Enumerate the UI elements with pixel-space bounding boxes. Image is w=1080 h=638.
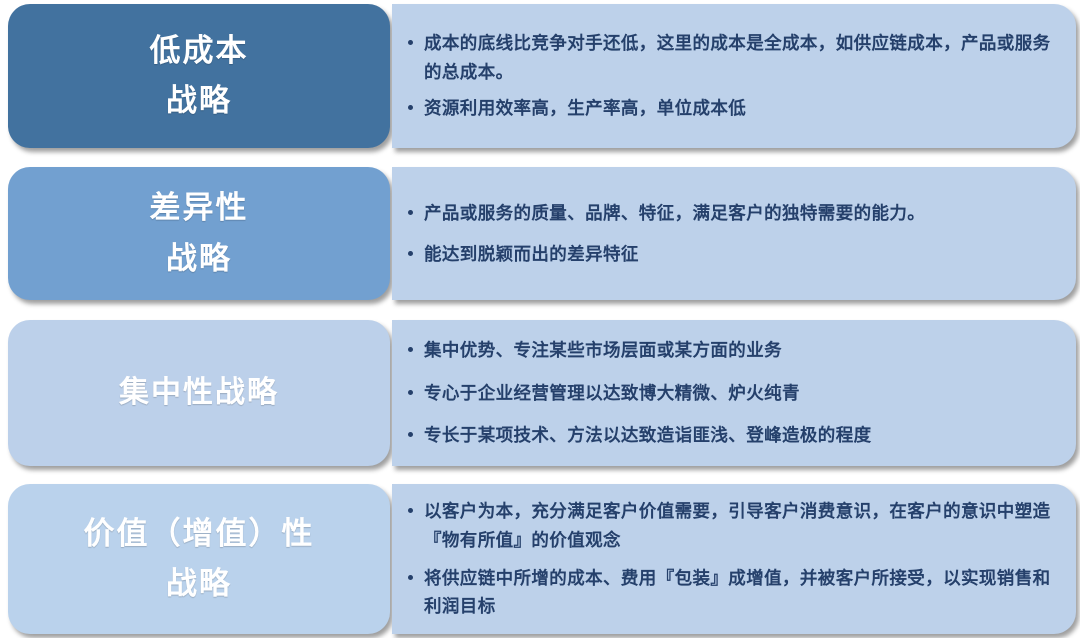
strategy-label-card-differentiation[interactable]: 差异性 战略	[8, 167, 390, 300]
strategy-label-line: 战略	[166, 559, 232, 609]
strategy-body-panel-low-cost: 成本的底线比竞争对手还低，这里的成本是全成本，如供应链成本，产品或服务的总成本。…	[392, 4, 1076, 148]
strategy-row-focus: 集中性战略 集中优势、专注某些市场层面或某方面的业务 专心于企业经营管理以达致博…	[0, 320, 1080, 466]
strategy-label-line: 战略	[166, 234, 232, 284]
bullet-item: 成本的底线比竞争对手还低，这里的成本是全成本，如供应链成本，产品或服务的总成本。	[406, 29, 1058, 86]
strategy-body-panel-focus: 集中优势、专注某些市场层面或某方面的业务 专心于企业经营管理以达致博大精微、炉火…	[392, 320, 1076, 466]
strategy-label-line: 战略	[166, 76, 232, 126]
bullet-item: 能达到脱颖而出的差异特征	[406, 240, 1058, 268]
strategy-label-line: 差异性	[150, 183, 249, 233]
strategy-label-card-value-added[interactable]: 价值（增值）性 战略	[8, 484, 390, 634]
strategy-label-line: 低成本	[150, 26, 249, 76]
strategy-matrix-diagram: 低成本 战略 成本的底线比竞争对手还低，这里的成本是全成本，如供应链成本，产品或…	[0, 0, 1080, 638]
strategy-body-panel-differentiation: 产品或服务的质量、品牌、特征，满足客户的独特需要的能力。 能达到脱颖而出的差异特…	[392, 167, 1076, 300]
bullet-item: 资源利用效率高，生产率高，单位成本低	[406, 94, 1058, 122]
bullet-item: 专长于某项技术、方法以达致造诣匪浅、登峰造极的程度	[406, 421, 1058, 449]
bullet-item: 集中优势、专注某些市场层面或某方面的业务	[406, 336, 1058, 364]
strategy-row-differentiation: 差异性 战略 产品或服务的质量、品牌、特征，满足客户的独特需要的能力。 能达到脱…	[0, 167, 1080, 300]
strategy-body-panel-value-added: 以客户为本，充分满足客户价值需要，引导客户消费意识，在客户的意识中塑造『物有所值…	[392, 484, 1076, 634]
bullet-item: 以客户为本，充分满足客户价值需要，引导客户消费意识，在客户的意识中塑造『物有所值…	[406, 497, 1058, 554]
strategy-label-line: 集中性战略	[119, 369, 279, 418]
bullet-item: 产品或服务的质量、品牌、特征，满足客户的独特需要的能力。	[406, 199, 1058, 227]
strategy-label-line: 价值（增值）性	[84, 509, 315, 559]
bullet-item: 将供应链中所增的成本、费用『包装』成增值，并被客户所接受，以实现销售和利润目标	[406, 564, 1058, 621]
strategy-label-card-focus[interactable]: 集中性战略	[8, 320, 390, 466]
strategy-label-card-low-cost[interactable]: 低成本 战略	[8, 4, 390, 148]
strategy-row-low-cost: 低成本 战略 成本的底线比竞争对手还低，这里的成本是全成本，如供应链成本，产品或…	[0, 4, 1080, 148]
strategy-row-value-added: 价值（增值）性 战略 以客户为本，充分满足客户价值需要，引导客户消费意识，在客户…	[0, 484, 1080, 634]
bullet-item: 专心于企业经营管理以达致博大精微、炉火纯青	[406, 379, 1058, 407]
